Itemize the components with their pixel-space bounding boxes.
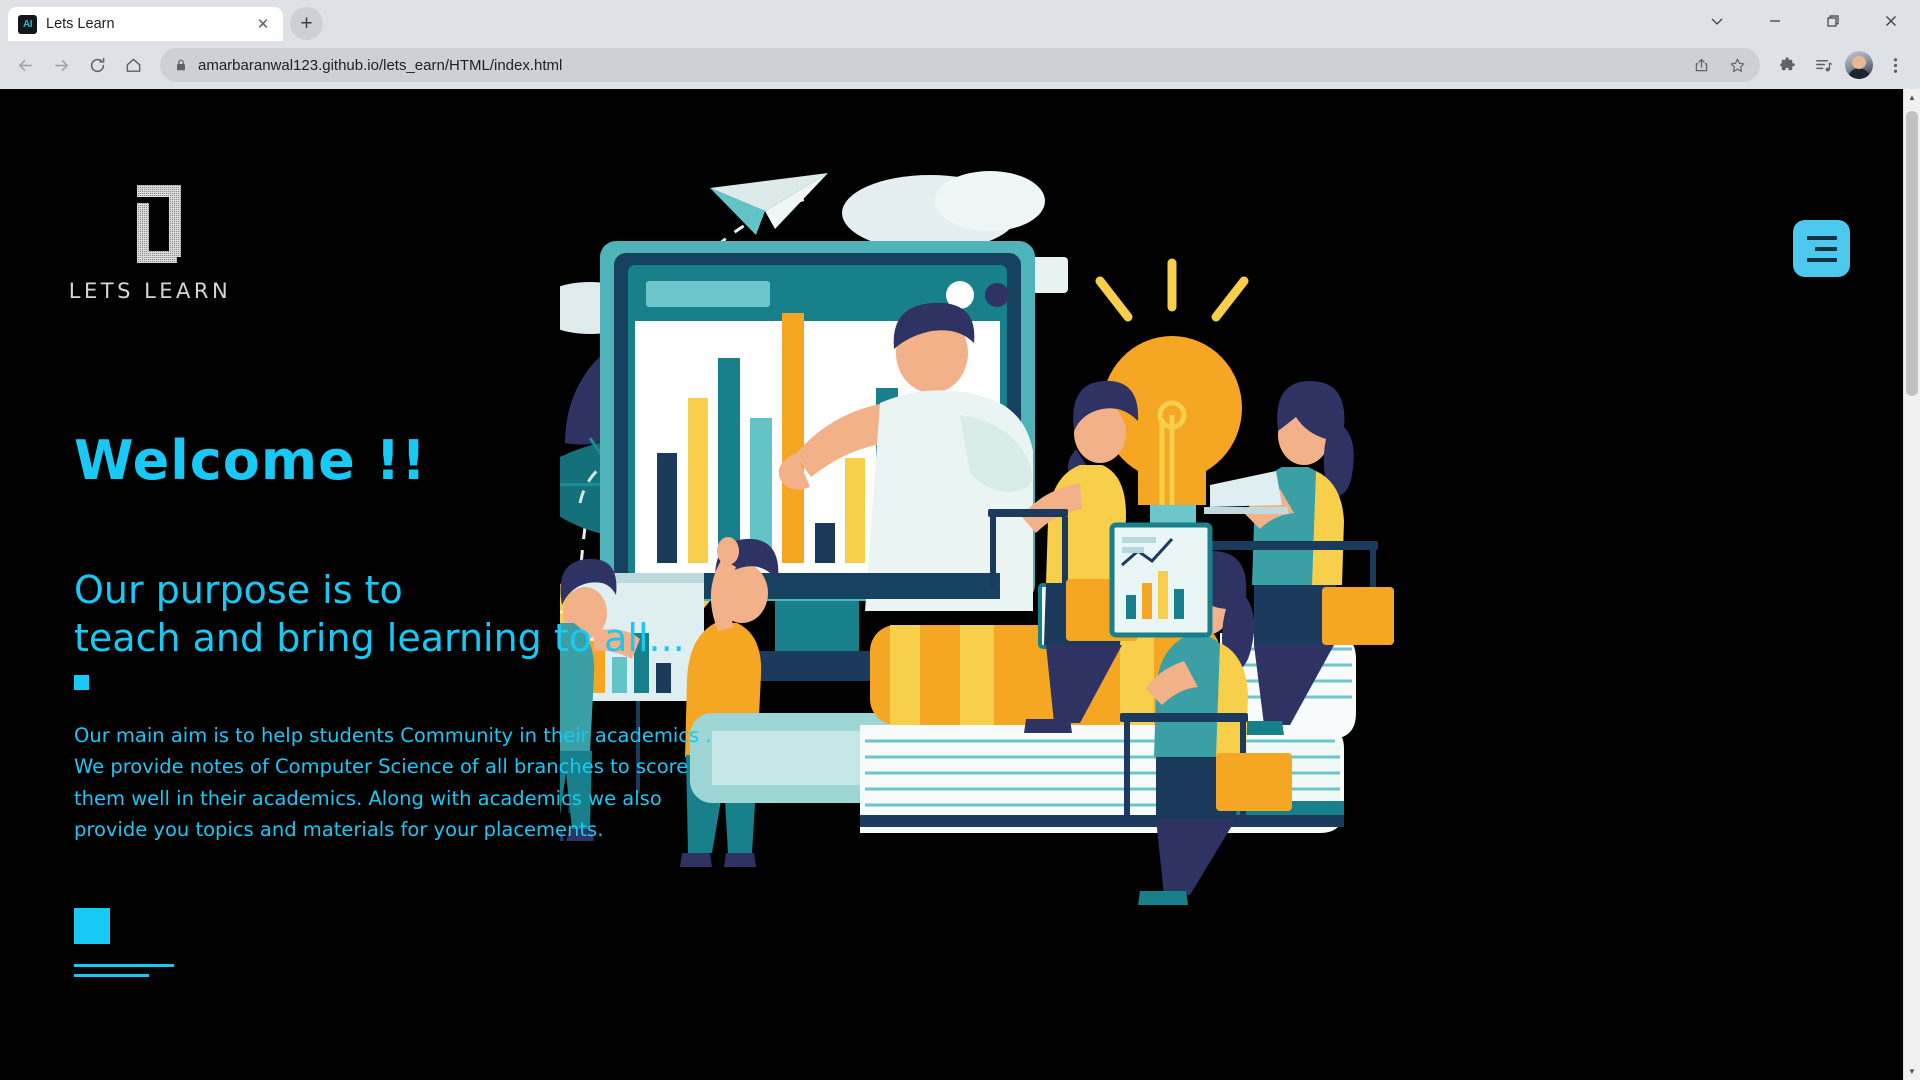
- tablet-chart-icon: [1112, 525, 1210, 635]
- avatar[interactable]: [1842, 48, 1876, 82]
- back-arrow-icon[interactable]: [8, 48, 42, 82]
- window-controls: [1688, 0, 1920, 41]
- page-title: Welcome !!: [74, 429, 712, 492]
- hero-subtitle: Our purpose is to teach and bring learni…: [74, 566, 712, 663]
- reading-list-icon[interactable]: [1806, 48, 1840, 82]
- favicon-label: AI: [23, 19, 32, 30]
- browser-toolbar: amarbaranwal123.github.io/lets_earn/HTML…: [0, 41, 1920, 89]
- window-dot-dark: [985, 283, 1009, 307]
- browser-window: AI Lets Learn ✕ +: [0, 0, 1920, 1080]
- address-bar[interactable]: amarbaranwal123.github.io/lets_earn/HTML…: [160, 48, 1760, 82]
- cta-box-icon: [74, 908, 110, 944]
- titlebar-field: [646, 281, 770, 307]
- browser-tab[interactable]: AI Lets Learn ✕: [8, 7, 283, 41]
- home-icon[interactable]: [116, 48, 150, 82]
- forward-arrow-icon[interactable]: [44, 48, 78, 82]
- url-text[interactable]: amarbaranwal123.github.io/lets_earn/HTML…: [198, 57, 1674, 74]
- puzzle-piece-icon[interactable]: [1770, 48, 1804, 82]
- tab-title: Lets Learn: [46, 16, 244, 32]
- hero-section: Welcome !! Our purpose is to teach and b…: [74, 429, 712, 977]
- restore-icon[interactable]: [1804, 0, 1862, 41]
- three-dot-menu-icon[interactable]: [1878, 48, 1912, 82]
- scroll-down-arrow-icon[interactable]: ▼: [1904, 1063, 1920, 1080]
- hero-paragraph: Our main aim is to help students Communi…: [74, 720, 712, 846]
- cta-underline-1: [74, 964, 174, 967]
- scroll-up-arrow-icon[interactable]: ▲: [1904, 89, 1920, 106]
- tab-favicon-icon: AI: [18, 15, 37, 34]
- typing-caret: [74, 675, 89, 690]
- hamburger-menu-button[interactable]: [1793, 220, 1850, 277]
- new-tab-button[interactable]: +: [290, 7, 323, 40]
- hamburger-icon-line-1: [1807, 236, 1837, 240]
- star-icon[interactable]: [1720, 48, 1754, 82]
- vertical-scrollbar[interactable]: ▲ ▼: [1903, 89, 1920, 1080]
- close-icon[interactable]: [1862, 0, 1920, 41]
- reload-icon[interactable]: [80, 48, 114, 82]
- tab-close-icon[interactable]: ✕: [253, 14, 273, 34]
- minimize-icon[interactable]: [1746, 0, 1804, 41]
- omnibox-actions: [1684, 48, 1754, 82]
- hamburger-icon-line-2: [1815, 247, 1837, 251]
- lock-icon: [174, 58, 188, 72]
- cta-underline-2: [74, 974, 149, 977]
- share-icon[interactable]: [1684, 48, 1718, 82]
- paper-plane-icon: [710, 173, 828, 235]
- page-viewport: LETS LEARN Welcome !! Our purpose is to …: [0, 89, 1920, 1080]
- online-learning-illustration: [560, 153, 1630, 963]
- tab-strip: AI Lets Learn ✕ +: [0, 0, 1920, 41]
- tab-search-chevron-down-icon[interactable]: [1688, 0, 1746, 41]
- hamburger-icon-line-3: [1807, 258, 1837, 262]
- square-bracket-logo-icon: [119, 185, 181, 265]
- avatar-icon: [1845, 51, 1873, 79]
- site-logo[interactable]: LETS LEARN: [62, 185, 238, 303]
- cta-button[interactable]: [74, 908, 712, 977]
- logo-text: LETS LEARN: [62, 279, 238, 303]
- scrollbar-thumb[interactable]: [1906, 111, 1918, 396]
- website-content: LETS LEARN Welcome !! Our purpose is to …: [0, 89, 1903, 1080]
